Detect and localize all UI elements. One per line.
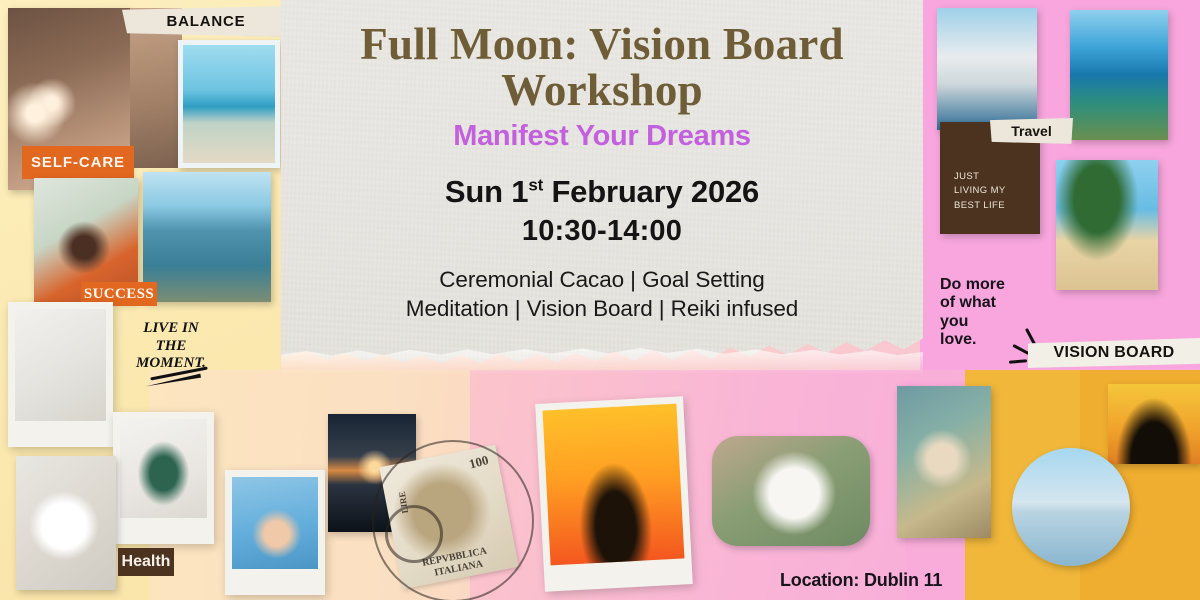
dumbbell-photo-image [120,419,207,518]
label-balance: BALANCE [122,6,290,37]
event-features-line1: Ceremonial Cacao | Goal Setting [406,265,798,295]
snorkel-reef-photo [1070,10,1168,140]
family-photo [225,470,325,595]
label-balance-text: BALANCE [167,13,246,30]
quote-do-more-of-what-you-love: Do more of what you love. [940,258,1032,349]
label-vision-board-text: VISION BOARD [1054,344,1175,362]
bali-gate-photo [1012,448,1130,566]
journal-writing-photo [8,302,113,447]
label-health-text: Health [122,553,171,571]
couple-silhouette-photo [1108,384,1200,464]
meditation-sunset-photo-image [543,404,685,566]
event-features-line2: Meditation | Vision Board | Reiki infuse… [406,294,798,324]
healthy-salad-photo [16,456,116,590]
poster-headline-block: Full Moon: Vision Board Workshop Manifes… [281,0,923,372]
page-title: Full Moon: Vision Board Workshop [302,22,902,114]
event-date-ordinal: st [528,175,543,194]
label-health: Health [118,548,174,576]
quote-card-best-life-text: JUST LIVING MY BEST LIFE [954,170,1006,213]
poster-subtitle: Manifest Your Dreams [453,120,751,153]
painting-palette-photo [897,386,991,538]
event-date-prefix: Sun 1 [445,174,528,209]
notebook-planning-photo [712,436,870,546]
label-travel: Travel [990,118,1073,144]
event-date: Sun 1st February 2026 [445,174,759,210]
quote-do-more-of-what-you-love-text: Do more of what you love. [940,276,1005,348]
santorini-couple-photo [937,8,1037,130]
journal-writing-photo-image [15,309,106,421]
label-success-text: SUCCESS [84,286,154,303]
cliff-jump-photo [143,172,271,302]
palm-beach-photo [1056,160,1158,290]
family-photo-image [232,477,318,569]
label-self-care: SELF-CARE [22,146,134,179]
quote-live-in-the-moment: LIVE IN THE MOMENT. [116,320,226,373]
dumbbell-photo [113,412,214,544]
event-time: 10:30-14:00 [522,215,682,248]
quote-live-in-the-moment-text: LIVE IN THE MOMENT. [136,320,206,371]
event-features: Ceremonial Cacao | Goal Setting Meditati… [406,265,798,324]
event-location: Location: Dublin 11 [780,570,942,591]
event-date-suffix: February 2026 [543,174,759,209]
label-self-care-text: SELF-CARE [31,154,125,171]
yoga-beach-photo [178,40,280,168]
label-travel-text: Travel [1011,123,1051,139]
meditation-sunset-photo [535,396,693,591]
postmark-inner-ring-icon [385,505,443,563]
poster-canvas: BALANCE SELF-CARE SUCCESS LIVE IN THE MO… [0,0,1200,600]
